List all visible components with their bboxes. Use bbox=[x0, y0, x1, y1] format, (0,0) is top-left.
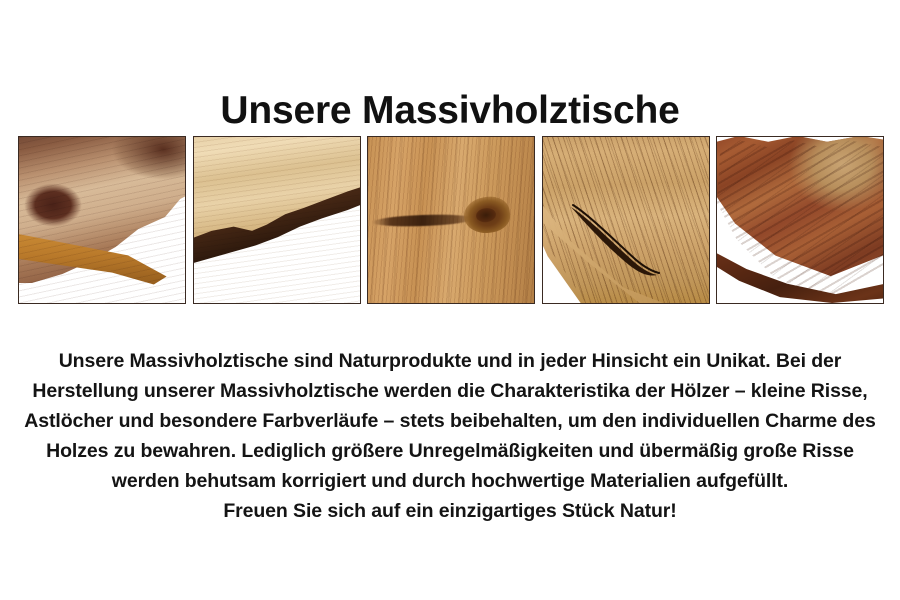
body-paragraph: Unsere Massivholztische sind Naturproduk… bbox=[0, 346, 900, 526]
photo2-grain-overlay bbox=[194, 137, 360, 303]
rough-sawn-board-filled-crack-image bbox=[543, 137, 709, 303]
gallery-photo-wood-grain-knot-crack[interactable] bbox=[367, 136, 535, 304]
wood-slab-live-edge-light-image bbox=[194, 137, 360, 303]
gallery-photo-wood-slab-burl-knot[interactable] bbox=[18, 136, 186, 304]
gallery-photo-sheesham-table-corner[interactable] bbox=[716, 136, 884, 304]
page-root: Unsere Massivholztische bbox=[0, 0, 900, 600]
body-line-3: Astlöcher und besondere Farbverläufe – s… bbox=[0, 406, 900, 436]
gallery-photo-wood-slab-live-edge-light[interactable] bbox=[193, 136, 361, 304]
body-line-1: Unsere Massivholztische sind Naturproduk… bbox=[0, 346, 900, 376]
sheesham-table-corner-image bbox=[717, 137, 883, 303]
body-line-2: Herstellung unserer Massivholztische wer… bbox=[0, 376, 900, 406]
body-line-4: Holzes zu bewahren. Lediglich größere Un… bbox=[0, 436, 900, 466]
photo-gallery bbox=[18, 136, 884, 304]
body-line-6: Freuen Sie sich auf ein einzigartiges St… bbox=[0, 496, 900, 526]
wood-slab-burl-knot-image bbox=[19, 137, 185, 303]
gallery-photo-rough-sawn-board-filled-crack[interactable] bbox=[542, 136, 710, 304]
photo1-grain-overlay bbox=[19, 137, 185, 303]
wood-grain-knot-crack-image bbox=[368, 137, 534, 303]
photo4-filled-crack bbox=[567, 201, 671, 279]
body-line-5: werden behutsam korrigiert und durch hoc… bbox=[0, 466, 900, 496]
page-title: Unsere Massivholztische bbox=[0, 89, 900, 134]
